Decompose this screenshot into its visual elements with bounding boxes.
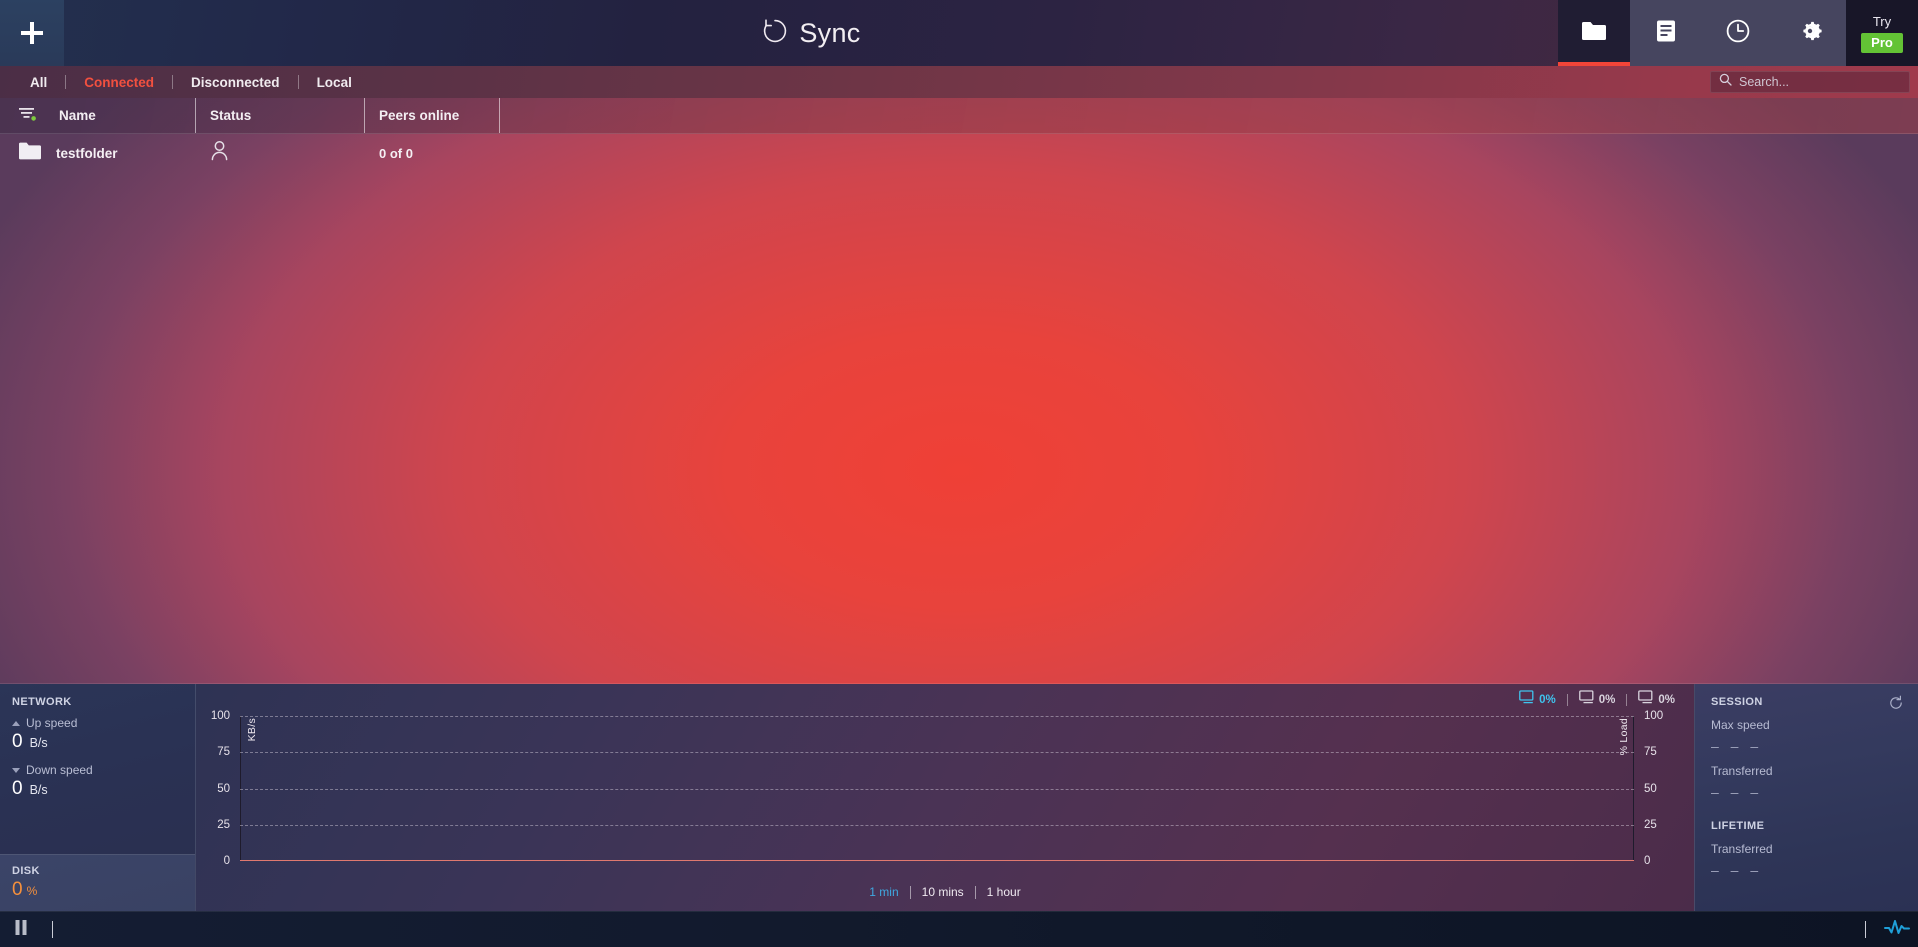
down-speed-value-row: 0 B/s [12, 778, 183, 800]
column-header-name[interactable]: Name [0, 98, 196, 133]
folder-table-header: Name Status Peers online [0, 98, 1918, 134]
search-box[interactable] [1710, 71, 1910, 93]
gridline-50 [240, 789, 1634, 790]
top-nav [1558, 0, 1846, 66]
pause-button[interactable] [0, 912, 42, 947]
y-tick-right-25: 25 [1644, 819, 1657, 831]
sync-app-window: Sync [0, 0, 1918, 947]
up-speed-value: 0 [12, 731, 23, 753]
filter-local[interactable]: Local [299, 75, 370, 90]
try-pro-button[interactable]: Try Pro [1846, 0, 1918, 66]
session-max-speed-value: – – – [1711, 738, 1902, 754]
reset-stats-button[interactable] [1888, 695, 1904, 716]
cpu-indicator-3[interactable]: 0% [1627, 690, 1686, 709]
pause-icon [13, 919, 29, 941]
status-right-group [1855, 912, 1918, 947]
column-header-filler [500, 98, 1918, 133]
column-header-name-label: Name [59, 108, 96, 123]
disk-panel: DISK 0 % [0, 854, 195, 911]
nav-devices-button[interactable] [1630, 0, 1702, 66]
session-transferred-value: – – – [1711, 784, 1902, 800]
cpu-indicator-2[interactable]: 0% [1568, 690, 1627, 709]
triangle-up-icon [12, 721, 20, 726]
column-header-peers-label: Peers online [379, 108, 459, 123]
cpu-percent-1: 0% [1539, 694, 1556, 706]
monitor-icon [1579, 690, 1594, 709]
y-tick-left-0: 0 [224, 855, 230, 867]
lifetime-transferred-label: Transferred [1711, 842, 1902, 856]
cpu-indicators: 0% 0% [1508, 690, 1686, 709]
up-speed-label: Up speed [26, 716, 77, 730]
add-folder-button[interactable] [0, 0, 64, 66]
y-tick-right-0: 0 [1644, 855, 1650, 867]
clock-icon [1725, 18, 1751, 49]
network-title: NETWORK [12, 696, 183, 708]
y-tick-left-25: 25 [217, 819, 230, 831]
triangle-down-icon [12, 768, 20, 773]
filter-group: All Connected Disconnected Local [0, 75, 370, 90]
disk-value-row: 0 % [12, 879, 183, 901]
nav-history-button[interactable] [1702, 0, 1774, 66]
disk-value: 0 [12, 879, 23, 901]
app-title-block: Sync [64, 0, 1558, 66]
range-10-mins[interactable]: 10 mins [911, 885, 975, 899]
column-header-status-label: Status [210, 108, 251, 123]
network-graph-panel: 0% 0% [196, 684, 1695, 911]
filter-all[interactable]: All [12, 75, 65, 90]
folder-icon [18, 141, 42, 166]
y-tick-left-50: 50 [217, 783, 230, 795]
folder-icon [1581, 20, 1607, 47]
top-bar: Sync [0, 0, 1918, 66]
monitor-icon [1519, 690, 1534, 709]
search-icon [1719, 73, 1732, 91]
network-panel: NETWORK Up speed 0 B/s Down speed 0 B/s [0, 684, 196, 911]
up-speed-value-row: 0 B/s [12, 731, 183, 753]
session-max-speed-label: Max speed [1711, 718, 1902, 732]
folder-list: testfolder 0 of 0 [0, 134, 1918, 683]
y-tick-left-75: 75 [217, 746, 230, 758]
table-row[interactable]: testfolder 0 of 0 [0, 134, 1918, 172]
nav-preferences-button[interactable] [1774, 0, 1846, 66]
network-section: NETWORK Up speed 0 B/s Down speed 0 B/s [0, 684, 195, 854]
down-speed-label: Down speed [26, 763, 93, 777]
session-panel: SESSION Max speed – – – Transferred – – … [1695, 684, 1918, 911]
row-name-label: testfolder [56, 146, 118, 161]
gridline-75 [240, 752, 1634, 753]
up-speed-unit: B/s [30, 736, 48, 750]
lifetime-transferred-value: – – – [1711, 862, 1902, 878]
pro-badge: Pro [1861, 33, 1903, 53]
sort-filter-icon[interactable] [18, 106, 37, 125]
row-status-cell [196, 140, 365, 166]
bottom-stats-panel: NETWORK Up speed 0 B/s Down speed 0 B/s [0, 683, 1918, 911]
monitor-icon [1638, 690, 1653, 709]
down-speed-unit: B/s [30, 783, 48, 797]
activity-button[interactable] [1876, 912, 1918, 947]
sync-logo-icon [761, 17, 789, 50]
y-tick-right-50: 50 [1644, 783, 1657, 795]
range-1-hour[interactable]: 1 hour [976, 885, 1032, 899]
cpu-percent-2: 0% [1599, 694, 1616, 706]
row-name-cell: testfolder [0, 141, 196, 166]
filter-connected[interactable]: Connected [66, 75, 172, 90]
y-axis-right-label: % Load [1618, 718, 1630, 755]
device-list-icon [1655, 19, 1677, 48]
time-range-selector: 1 min 10 mins 1 hour [196, 885, 1694, 899]
down-speed-row: Down speed [12, 763, 183, 777]
status-bar [0, 911, 1918, 947]
cpu-percent-3: 0% [1658, 694, 1675, 706]
up-speed-row: Up speed [12, 716, 183, 730]
gear-icon [1797, 18, 1823, 49]
session-title: SESSION [1711, 696, 1902, 708]
activity-pulse-icon [1884, 918, 1910, 941]
reset-circular-arrow-icon [1888, 698, 1904, 715]
column-header-status[interactable]: Status [196, 98, 365, 133]
search-input[interactable] [1739, 75, 1901, 89]
status-divider [1865, 921, 1866, 938]
app-title: Sync [799, 18, 860, 49]
y-axis-left-label: KB/s [246, 718, 258, 741]
chart-plot-area: KB/s % Load 100 75 50 25 0 100 75 50 25 … [240, 716, 1634, 861]
plus-icon [19, 20, 45, 46]
person-icon [210, 140, 229, 166]
nav-folders-button[interactable] [1558, 0, 1630, 66]
status-divider [52, 921, 53, 938]
filter-bar: All Connected Disconnected Local [0, 66, 1918, 98]
disk-title: DISK [12, 865, 183, 877]
gridline-100 [240, 716, 1634, 717]
range-1-min[interactable]: 1 min [858, 885, 909, 899]
session-transferred-label: Transferred [1711, 764, 1902, 778]
y-tick-right-75: 75 [1644, 746, 1657, 758]
row-peers-cell: 0 of 0 [365, 146, 500, 161]
filter-disconnected[interactable]: Disconnected [173, 75, 298, 90]
try-label: Try [1873, 14, 1891, 29]
gridline-25 [240, 825, 1634, 826]
y-tick-left-100: 100 [211, 710, 230, 722]
column-header-peers[interactable]: Peers online [365, 98, 500, 133]
lifetime-title: LIFETIME [1711, 820, 1902, 832]
series-up-speed-line [240, 860, 1634, 861]
cpu-indicator-1[interactable]: 0% [1508, 690, 1567, 709]
y-tick-right-100: 100 [1644, 710, 1663, 722]
disk-unit: % [27, 884, 38, 898]
down-speed-value: 0 [12, 778, 23, 800]
